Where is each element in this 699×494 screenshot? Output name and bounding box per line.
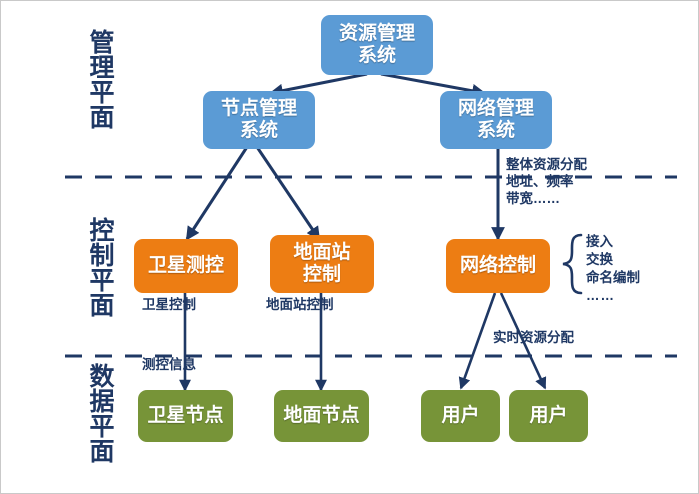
- plane-label-control: 控制平面: [71, 217, 117, 317]
- plane-label-data: 数据平面: [71, 363, 117, 463]
- brace-item-naming-scheme: 命名编制: [586, 269, 640, 286]
- edge-label-realtime-resource-allocation: 实时资源分配: [493, 329, 574, 346]
- node-resource-management-system[interactable]: 资源管理系统: [321, 15, 433, 75]
- edge-label-tt-and-c-info: 测控信息: [142, 356, 196, 373]
- brace-item-access: 接入: [586, 233, 613, 250]
- edge-label-ground-station-control: 地面站控制: [266, 296, 334, 313]
- node-node-management-system[interactable]: 节点管理系统: [203, 91, 315, 149]
- brace-item-switching: 交换: [586, 251, 613, 268]
- node-satellite-tt-and-c[interactable]: 卫星测控: [134, 239, 238, 293]
- node-ground-node[interactable]: 地面节点: [274, 390, 369, 442]
- arrow-node-management-to-ground-station-control: [257, 147, 319, 239]
- plane-label-management: 管理平面: [71, 29, 117, 129]
- node-ground-station-control[interactable]: 地面站控制: [270, 235, 374, 293]
- brace-item-ellipsis: ……: [586, 287, 615, 304]
- edge-label-overall-resource-allocation: 整体资源分配地址、频率带宽……: [506, 156, 587, 207]
- node-network-management-system[interactable]: 网络管理系统: [440, 91, 552, 149]
- diagram-canvas: 管理平面 控制平面 数据平面 资源管理系统 节点管理系统 网络管理系统 卫星测控…: [0, 0, 699, 494]
- arrow-network-control-to-user-1: [461, 293, 495, 388]
- node-network-control[interactable]: 网络控制: [446, 239, 550, 293]
- node-user-1[interactable]: 用户: [421, 390, 500, 442]
- arrow-node-management-to-satellite-ttc: [187, 147, 247, 239]
- node-satellite-node[interactable]: 卫星节点: [138, 390, 233, 442]
- curly-brace: [563, 235, 581, 293]
- node-user-2[interactable]: 用户: [509, 390, 588, 442]
- edge-label-satellite-control: 卫星控制: [142, 296, 196, 313]
